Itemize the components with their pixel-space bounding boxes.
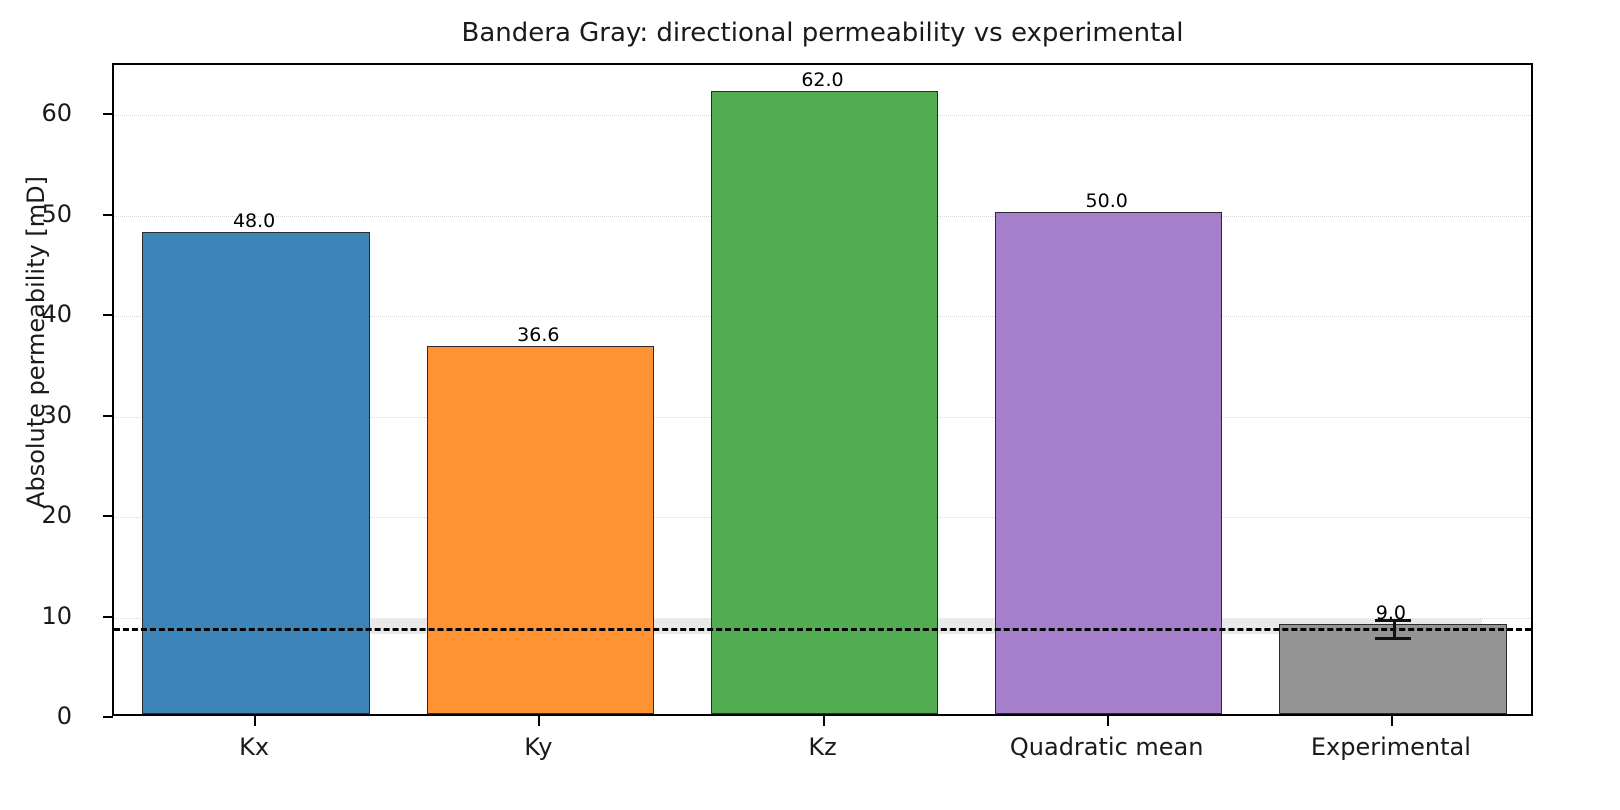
x-tick-label-kx: Kx	[239, 733, 269, 761]
plot-area	[112, 63, 1533, 716]
y-tick-mark-30	[103, 415, 113, 417]
x-tick-label-ky: Ky	[524, 733, 552, 761]
x-tick-mark-kz	[823, 716, 825, 726]
y-tick-label-10: 10	[41, 602, 72, 630]
bar-value-label-kz: 62.0	[801, 69, 843, 91]
experimental-reference-line	[114, 628, 1531, 631]
x-tick-mark-quadratic-mean	[1107, 716, 1109, 726]
bar-value-label-ky: 36.6	[517, 324, 559, 346]
error-bar-cap-lower	[1375, 637, 1411, 640]
bar-value-label-kx: 48.0	[233, 210, 275, 232]
bar-quadratic-mean[interactable]	[995, 212, 1222, 714]
y-tick-label-40: 40	[41, 300, 72, 328]
plot-inner	[114, 65, 1531, 714]
y-tick-mark-0	[103, 716, 113, 718]
y-tick-mark-60	[103, 113, 113, 115]
chart-figure: Bandera Gray: directional permeability v…	[0, 0, 1620, 810]
chart-title: Bandera Gray: directional permeability v…	[112, 18, 1533, 48]
bar-kz[interactable]	[711, 91, 938, 714]
x-tick-mark-kx	[254, 716, 256, 726]
x-tick-label-quadratic-mean: Quadratic mean	[1010, 733, 1204, 761]
x-tick-label-kz: Kz	[808, 733, 836, 761]
y-tick-label-20: 20	[41, 501, 72, 529]
bar-kx[interactable]	[142, 232, 369, 714]
y-tick-label-50: 50	[41, 200, 72, 228]
y-tick-mark-10	[103, 616, 113, 618]
x-tick-mark-experimental	[1391, 716, 1393, 726]
bar-ky[interactable]	[427, 346, 654, 714]
x-tick-mark-ky	[538, 716, 540, 726]
y-tick-mark-50	[103, 214, 113, 216]
y-tick-label-0: 0	[57, 702, 72, 730]
x-tick-label-experimental: Experimental	[1311, 733, 1471, 761]
bar-value-label-experimental: 9.0	[1376, 602, 1406, 624]
bar-value-label-quadratic-mean: 50.0	[1086, 190, 1128, 212]
y-tick-label-60: 60	[41, 99, 72, 127]
y-tick-mark-20	[103, 515, 113, 517]
y-tick-label-30: 30	[41, 401, 72, 429]
y-tick-mark-40	[103, 314, 113, 316]
